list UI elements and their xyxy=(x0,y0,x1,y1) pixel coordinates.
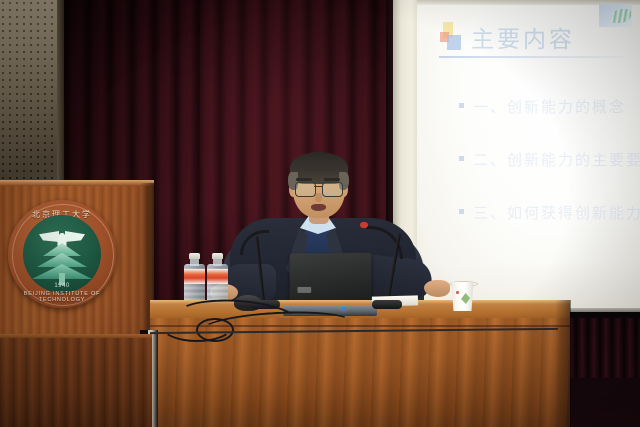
list-item: 一、创新能力的概念 xyxy=(459,100,639,115)
slide-bullet-text: 一、创新能力的概念 xyxy=(473,100,626,115)
glasses-lens-right xyxy=(322,182,343,197)
bullet-square-icon xyxy=(459,209,464,214)
acoustic-wall-shading xyxy=(0,0,63,185)
list-item: 三、如何获得创新能力 xyxy=(459,206,639,221)
projection-screen: 主要内容 一、创新能力的概念 二、创新能力的主要要素 三、如何获得创新能力 xyxy=(417,0,640,312)
mouth xyxy=(311,204,326,211)
slide-title: 主要内容 xyxy=(471,29,575,52)
right-hand xyxy=(424,280,450,297)
cable-drape xyxy=(160,308,234,342)
bottle-label xyxy=(184,269,205,284)
bullet-square-icon xyxy=(459,156,464,161)
eyebrow-left xyxy=(296,178,312,181)
list-item: 二、创新能力的主要要素 xyxy=(459,153,639,168)
desk-left-panel xyxy=(0,338,152,427)
acoustic-wall-edge xyxy=(57,0,64,185)
slide-bullet-text: 三、如何获得创新能力 xyxy=(473,206,640,221)
bottle-cap xyxy=(212,253,223,259)
microphone-base-1 xyxy=(372,300,402,309)
emblem-english-name: BEIJING INSTITUTE OF TECHNOLOGY xyxy=(8,291,116,303)
laptop-power-led-icon xyxy=(341,307,346,310)
bottle-label xyxy=(207,269,228,284)
laptop-logo-icon xyxy=(297,287,311,293)
paper-cup xyxy=(450,282,475,311)
lectern-top-edge xyxy=(0,180,154,186)
eyebrow-right xyxy=(324,178,340,181)
slide-bullet-text: 二、创新能力的主要要素 xyxy=(473,153,640,168)
slide-logo-leaf-shape xyxy=(611,9,631,23)
glasses-lens-left xyxy=(295,182,316,197)
emblem-center-disc: 1940 xyxy=(23,215,101,293)
emblem-year: 1940 xyxy=(23,283,101,289)
photo-scene: 主要内容 一、创新能力的概念 二、创新能力的主要要素 三、如何获得创新能力 xyxy=(0,0,640,427)
microphone-capsule-1 xyxy=(360,222,368,228)
slide-title-decoration-icon xyxy=(439,22,465,52)
university-emblem: 北京理工大学 1940 BEIJING INSTITUTE OF TECHNOL… xyxy=(8,200,116,308)
slide-bullet-list: 一、创新能力的概念 二、创新能力的主要要素 三、如何获得创新能力 xyxy=(459,100,639,259)
bullet-square-icon xyxy=(459,103,464,108)
nose xyxy=(315,193,322,202)
cup-pattern-dot xyxy=(456,291,459,294)
slide-title-underline xyxy=(439,56,624,58)
desk-right-shadow xyxy=(555,300,571,427)
bottle-cap xyxy=(189,253,200,259)
glasses-bridge xyxy=(314,186,322,187)
slide-title-row: 主要内容 xyxy=(439,22,629,52)
